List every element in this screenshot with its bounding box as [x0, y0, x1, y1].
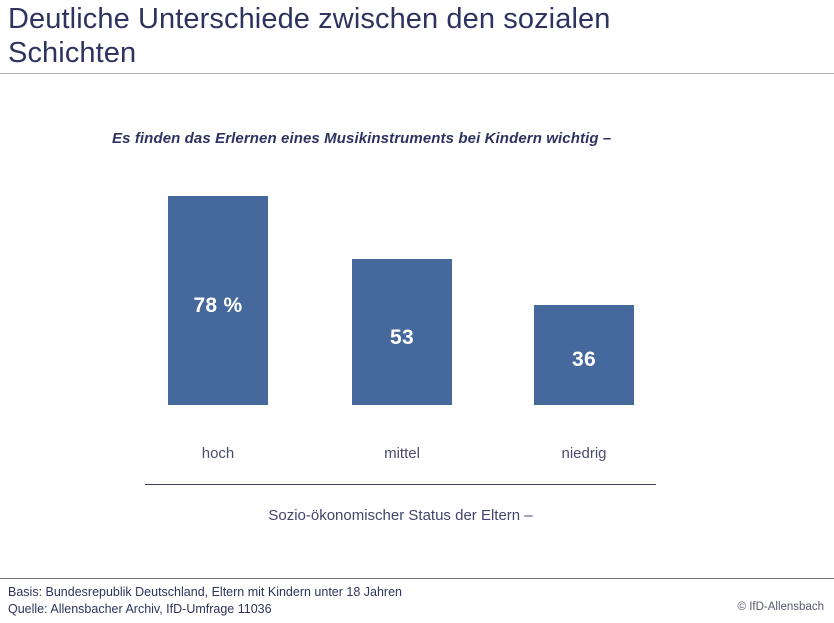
bar-hoch[interactable] [168, 196, 268, 405]
bar-chart-plot-area: 78 % hoch 53 mittel 36 niedrig Sozio-öko… [0, 0, 834, 623]
footer-source-line: Quelle: Allensbacher Archiv, IfD-Umfrage… [8, 601, 402, 618]
header-divider [0, 73, 834, 74]
footer-notes: Basis: Bundesrepublik Deutschland, Elter… [8, 584, 402, 618]
bar-mittel[interactable] [352, 259, 452, 405]
x-axis-line [145, 484, 656, 485]
footer-divider [0, 578, 834, 579]
copyright-label: © IfD-Allensbach [738, 601, 824, 613]
chart-subtitle: Es finden das Erlernen eines Musikinstru… [112, 130, 611, 147]
bar-category-hoch: hoch [148, 445, 288, 462]
footer-basis-line: Basis: Bundesrepublik Deutschland, Elter… [8, 584, 402, 601]
bar-niedrig[interactable] [534, 305, 634, 405]
x-axis-label: Sozio-ökonomischer Status der Eltern – [145, 507, 656, 524]
bar-category-mittel: mittel [332, 445, 472, 462]
page-title: Deutliche Unterschiede zwischen den sozi… [8, 2, 768, 70]
bar-category-niedrig: niedrig [514, 445, 654, 462]
bar-value-niedrig: 36 [534, 348, 634, 372]
bar-value-mittel: 53 [352, 326, 452, 350]
bar-value-hoch: 78 % [168, 294, 268, 318]
